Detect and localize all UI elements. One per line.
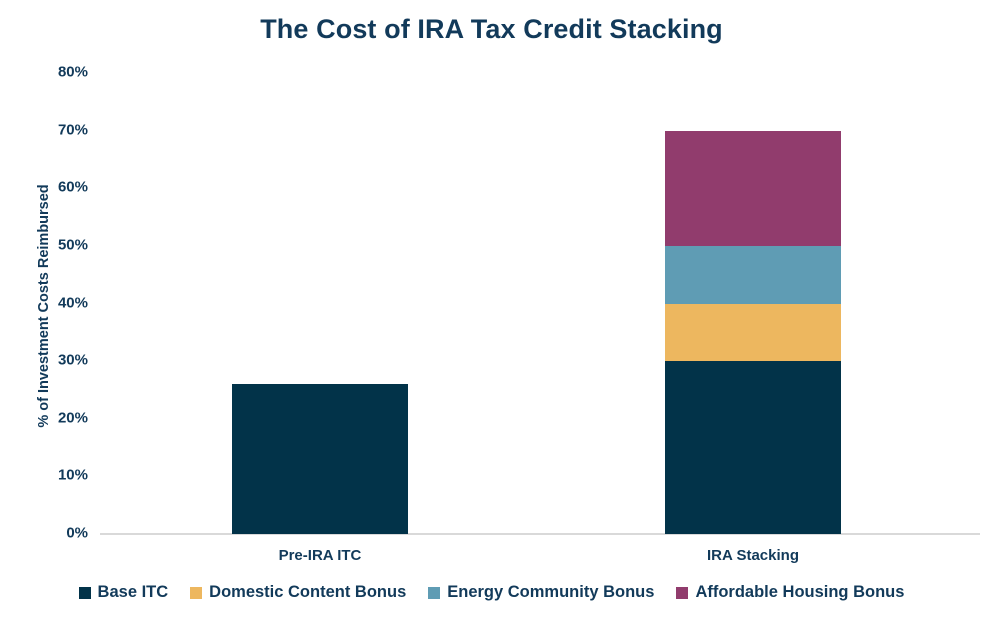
legend-label: Energy Community Bonus <box>447 583 654 602</box>
bar-stack <box>232 73 408 534</box>
y-axis-tick-70: 70% <box>28 121 88 138</box>
x-axis-label-ira-stacking: IRA Stacking <box>605 547 901 564</box>
bar-segment-base-itc[interactable] <box>665 361 841 534</box>
legend-item-energy-community-bonus[interactable]: Energy Community Bonus <box>428 583 654 602</box>
legend-label: Domestic Content Bonus <box>209 583 406 602</box>
y-axis-tick-0: 0% <box>28 525 88 542</box>
legend-label: Base ITC <box>98 583 169 602</box>
legend-item-affordable-housing-bonus[interactable]: Affordable Housing Bonus <box>676 583 904 602</box>
y-axis-tick-80: 80% <box>28 64 88 81</box>
plot-area <box>100 72 980 534</box>
legend-item-domestic-content-bonus[interactable]: Domestic Content Bonus <box>190 583 406 602</box>
y-axis-tick-40: 40% <box>28 294 88 311</box>
bar-segment-affordable-housing-bonus[interactable] <box>665 131 841 246</box>
y-axis-tick-60: 60% <box>28 179 88 196</box>
chart-legend: Base ITCDomestic Content BonusEnergy Com… <box>0 583 983 602</box>
legend-swatch-domestic-content-bonus-icon <box>190 587 202 599</box>
bar-segment-domestic-content-bonus[interactable] <box>665 304 841 362</box>
legend-swatch-base-itc-icon <box>79 587 91 599</box>
y-axis-tick-20: 20% <box>28 409 88 426</box>
bar-segment-base-itc[interactable] <box>232 384 408 534</box>
chart-container: The Cost of IRA Tax Credit Stacking % of… <box>0 0 983 622</box>
y-axis-tick-30: 30% <box>28 352 88 369</box>
bar-group-ira-stacking[interactable] <box>665 73 841 534</box>
legend-label: Affordable Housing Bonus <box>695 583 904 602</box>
legend-swatch-energy-community-bonus-icon <box>428 587 440 599</box>
y-axis-tick-labels: 0%10%20%30%40%50%60%70%80% <box>22 0 88 622</box>
bar-segment-energy-community-bonus[interactable] <box>665 246 841 304</box>
x-axis-label-pre-ira-itc: Pre-IRA ITC <box>172 547 468 564</box>
chart-title: The Cost of IRA Tax Credit Stacking <box>0 14 983 45</box>
bar-group-pre-ira-itc[interactable] <box>232 73 408 534</box>
legend-item-base-itc[interactable]: Base ITC <box>79 583 169 602</box>
bar-stack <box>665 73 841 534</box>
y-axis-tick-50: 50% <box>28 236 88 253</box>
y-axis-tick-10: 10% <box>28 467 88 484</box>
legend-swatch-affordable-housing-bonus-icon <box>676 587 688 599</box>
